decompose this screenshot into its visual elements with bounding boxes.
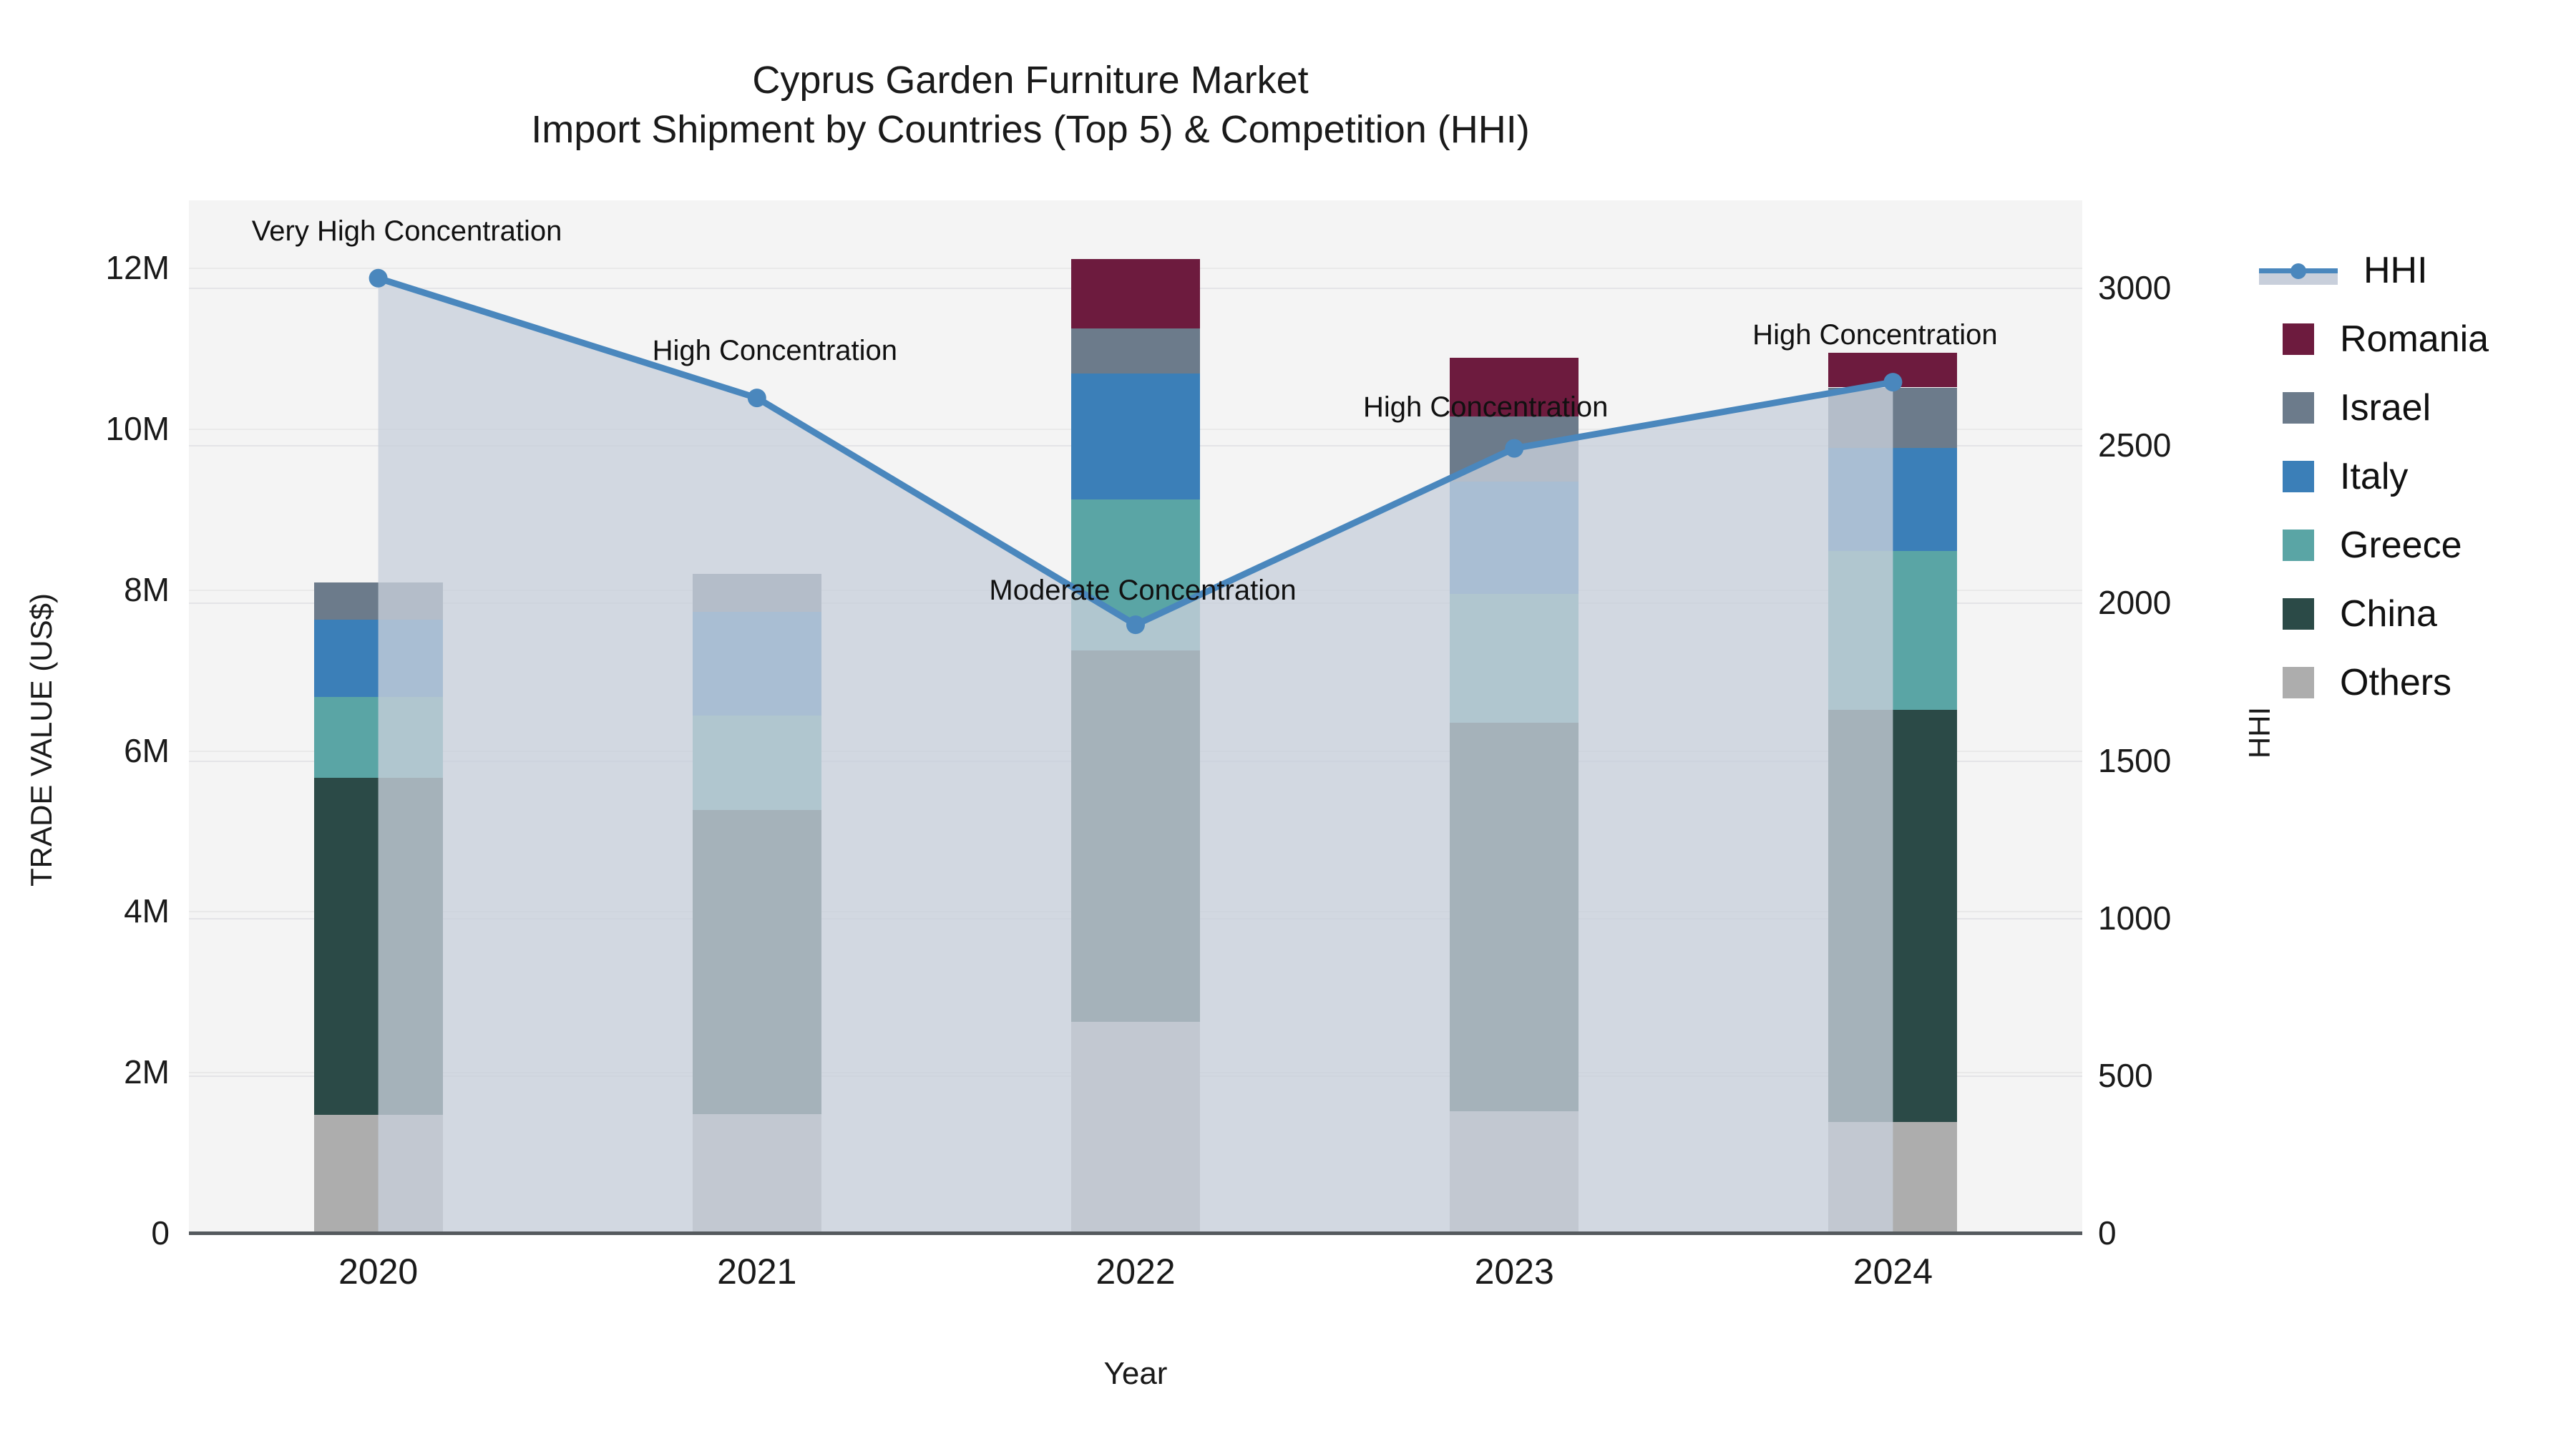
bar-segment-others[interactable] bbox=[693, 1114, 821, 1233]
concentration-annotation: High Concentration bbox=[653, 335, 897, 367]
y-axis-left-tick: 4M bbox=[124, 892, 170, 930]
bar-segment-others[interactable] bbox=[1071, 1022, 1200, 1233]
bar-segment-israel[interactable] bbox=[693, 574, 821, 612]
title-line-1: Cyprus Garden Furniture Market bbox=[752, 59, 1308, 102]
legend-label: Italy bbox=[2340, 455, 2408, 498]
y-axis-left-ticks: 02M4M6M8M10M12M bbox=[0, 0, 172, 1449]
bar-segment-israel[interactable] bbox=[314, 582, 443, 620]
bar-segment-israel[interactable] bbox=[1450, 416, 1579, 482]
y-axis-right-tick: 1500 bbox=[2098, 741, 2171, 780]
concentration-annotation: Moderate Concentration bbox=[989, 575, 1296, 607]
x-axis-tick: 2024 bbox=[1853, 1251, 1933, 1292]
legend-label: Romania bbox=[2340, 318, 2489, 361]
y-axis-right-tick: 1000 bbox=[2098, 899, 2171, 937]
bar-segment-israel[interactable] bbox=[1828, 388, 1957, 448]
x-axis-tick: 2020 bbox=[338, 1251, 418, 1292]
plot-inner: Very High ConcentrationHigh Concentratio… bbox=[189, 200, 2082, 1233]
bar-segment-italy[interactable] bbox=[1450, 482, 1579, 594]
y-axis-left-tick: 6M bbox=[124, 731, 170, 770]
legend-swatch bbox=[2283, 598, 2314, 630]
bar-segment-italy[interactable] bbox=[1071, 374, 1200, 499]
x-axis-tick: 2022 bbox=[1096, 1251, 1175, 1292]
y-axis-left-tick: 2M bbox=[124, 1053, 170, 1091]
legend-label: Israel bbox=[2340, 386, 2431, 429]
concentration-annotation: High Concentration bbox=[1363, 391, 1608, 424]
bar-segment-greece[interactable] bbox=[1450, 594, 1579, 723]
legend-swatch bbox=[2283, 461, 2314, 492]
y-axis-left-tick: 10M bbox=[106, 409, 170, 448]
bar-segment-greece[interactable] bbox=[693, 716, 821, 810]
bar-segment-others[interactable] bbox=[1450, 1111, 1579, 1233]
y-axis-right-ticks: 050010001500200025003000 bbox=[2098, 0, 2313, 1449]
legend-swatch bbox=[2283, 667, 2314, 698]
legend-label: Greece bbox=[2340, 524, 2462, 567]
page-title: Cyprus Garden Furniture Market Import Sh… bbox=[0, 56, 2061, 155]
y-axis-right-tick: 500 bbox=[2098, 1056, 2153, 1095]
bar-stack[interactable] bbox=[1828, 200, 1957, 1233]
bar-segment-china[interactable] bbox=[1071, 650, 1200, 1022]
y-axis-left-tick: 0 bbox=[151, 1214, 170, 1252]
legend-swatch bbox=[2283, 530, 2314, 561]
bar-segment-romania[interactable] bbox=[1071, 259, 1200, 329]
legend-item-romania[interactable]: Romania bbox=[2283, 305, 2569, 374]
bar-segment-israel[interactable] bbox=[1071, 328, 1200, 374]
legend: HHIRomaniaIsraelItalyGreeceChinaOthers bbox=[2283, 236, 2569, 717]
legend-item-hhi[interactable]: HHI bbox=[2283, 236, 2569, 305]
bar-segment-china[interactable] bbox=[314, 778, 443, 1115]
concentration-annotation: Very High Concentration bbox=[252, 215, 562, 248]
bar-segment-china[interactable] bbox=[693, 810, 821, 1114]
chart-canvas: Cyprus Garden Furniture Market Import Sh… bbox=[0, 0, 2576, 1449]
bar-segment-china[interactable] bbox=[1450, 723, 1579, 1111]
y-axis-right-tick: 2500 bbox=[2098, 426, 2171, 464]
bar-segment-greece[interactable] bbox=[1828, 551, 1957, 711]
y-axis-right-tick: 3000 bbox=[2098, 268, 2171, 307]
legend-swatch bbox=[2283, 392, 2314, 424]
bar-segment-others[interactable] bbox=[314, 1115, 443, 1233]
x-axis-line bbox=[189, 1231, 2082, 1235]
bar-stack[interactable] bbox=[1071, 200, 1200, 1233]
bar-segment-china[interactable] bbox=[1828, 710, 1957, 1122]
x-axis-tick: 2021 bbox=[717, 1251, 796, 1292]
y-axis-right-tick: 0 bbox=[2098, 1214, 2117, 1252]
legend-item-china[interactable]: China bbox=[2283, 580, 2569, 648]
legend-label: China bbox=[2340, 592, 2437, 635]
legend-label: HHI bbox=[2363, 249, 2428, 292]
legend-item-israel[interactable]: Israel bbox=[2283, 374, 2569, 442]
legend-item-others[interactable]: Others bbox=[2283, 648, 2569, 717]
legend-label: Others bbox=[2340, 661, 2451, 704]
bar-segment-others[interactable] bbox=[1828, 1122, 1957, 1233]
bar-segment-italy[interactable] bbox=[314, 620, 443, 697]
bar-segment-greece[interactable] bbox=[314, 697, 443, 777]
concentration-annotation: High Concentration bbox=[1752, 319, 1997, 351]
x-axis-label: Year bbox=[189, 1356, 2082, 1392]
legend-line-marker bbox=[2259, 255, 2338, 286]
y-axis-right-tick: 2000 bbox=[2098, 583, 2171, 622]
legend-swatch bbox=[2283, 323, 2314, 355]
legend-item-italy[interactable]: Italy bbox=[2283, 442, 2569, 511]
plot-area: Very High ConcentrationHigh Concentratio… bbox=[189, 200, 2082, 1233]
y-axis-left-tick: 8M bbox=[124, 570, 170, 609]
bar-segment-italy[interactable] bbox=[693, 612, 821, 716]
bar-stack[interactable] bbox=[314, 200, 443, 1233]
title-line-2: Import Shipment by Countries (Top 5) & C… bbox=[0, 105, 2061, 155]
y-axis-left-tick: 12M bbox=[106, 248, 170, 287]
legend-item-greece[interactable]: Greece bbox=[2283, 511, 2569, 580]
bar-stack[interactable] bbox=[1450, 200, 1579, 1233]
bar-segment-italy[interactable] bbox=[1828, 448, 1957, 551]
bar-segment-romania[interactable] bbox=[1828, 353, 1957, 387]
x-axis-tick: 2023 bbox=[1475, 1251, 1554, 1292]
